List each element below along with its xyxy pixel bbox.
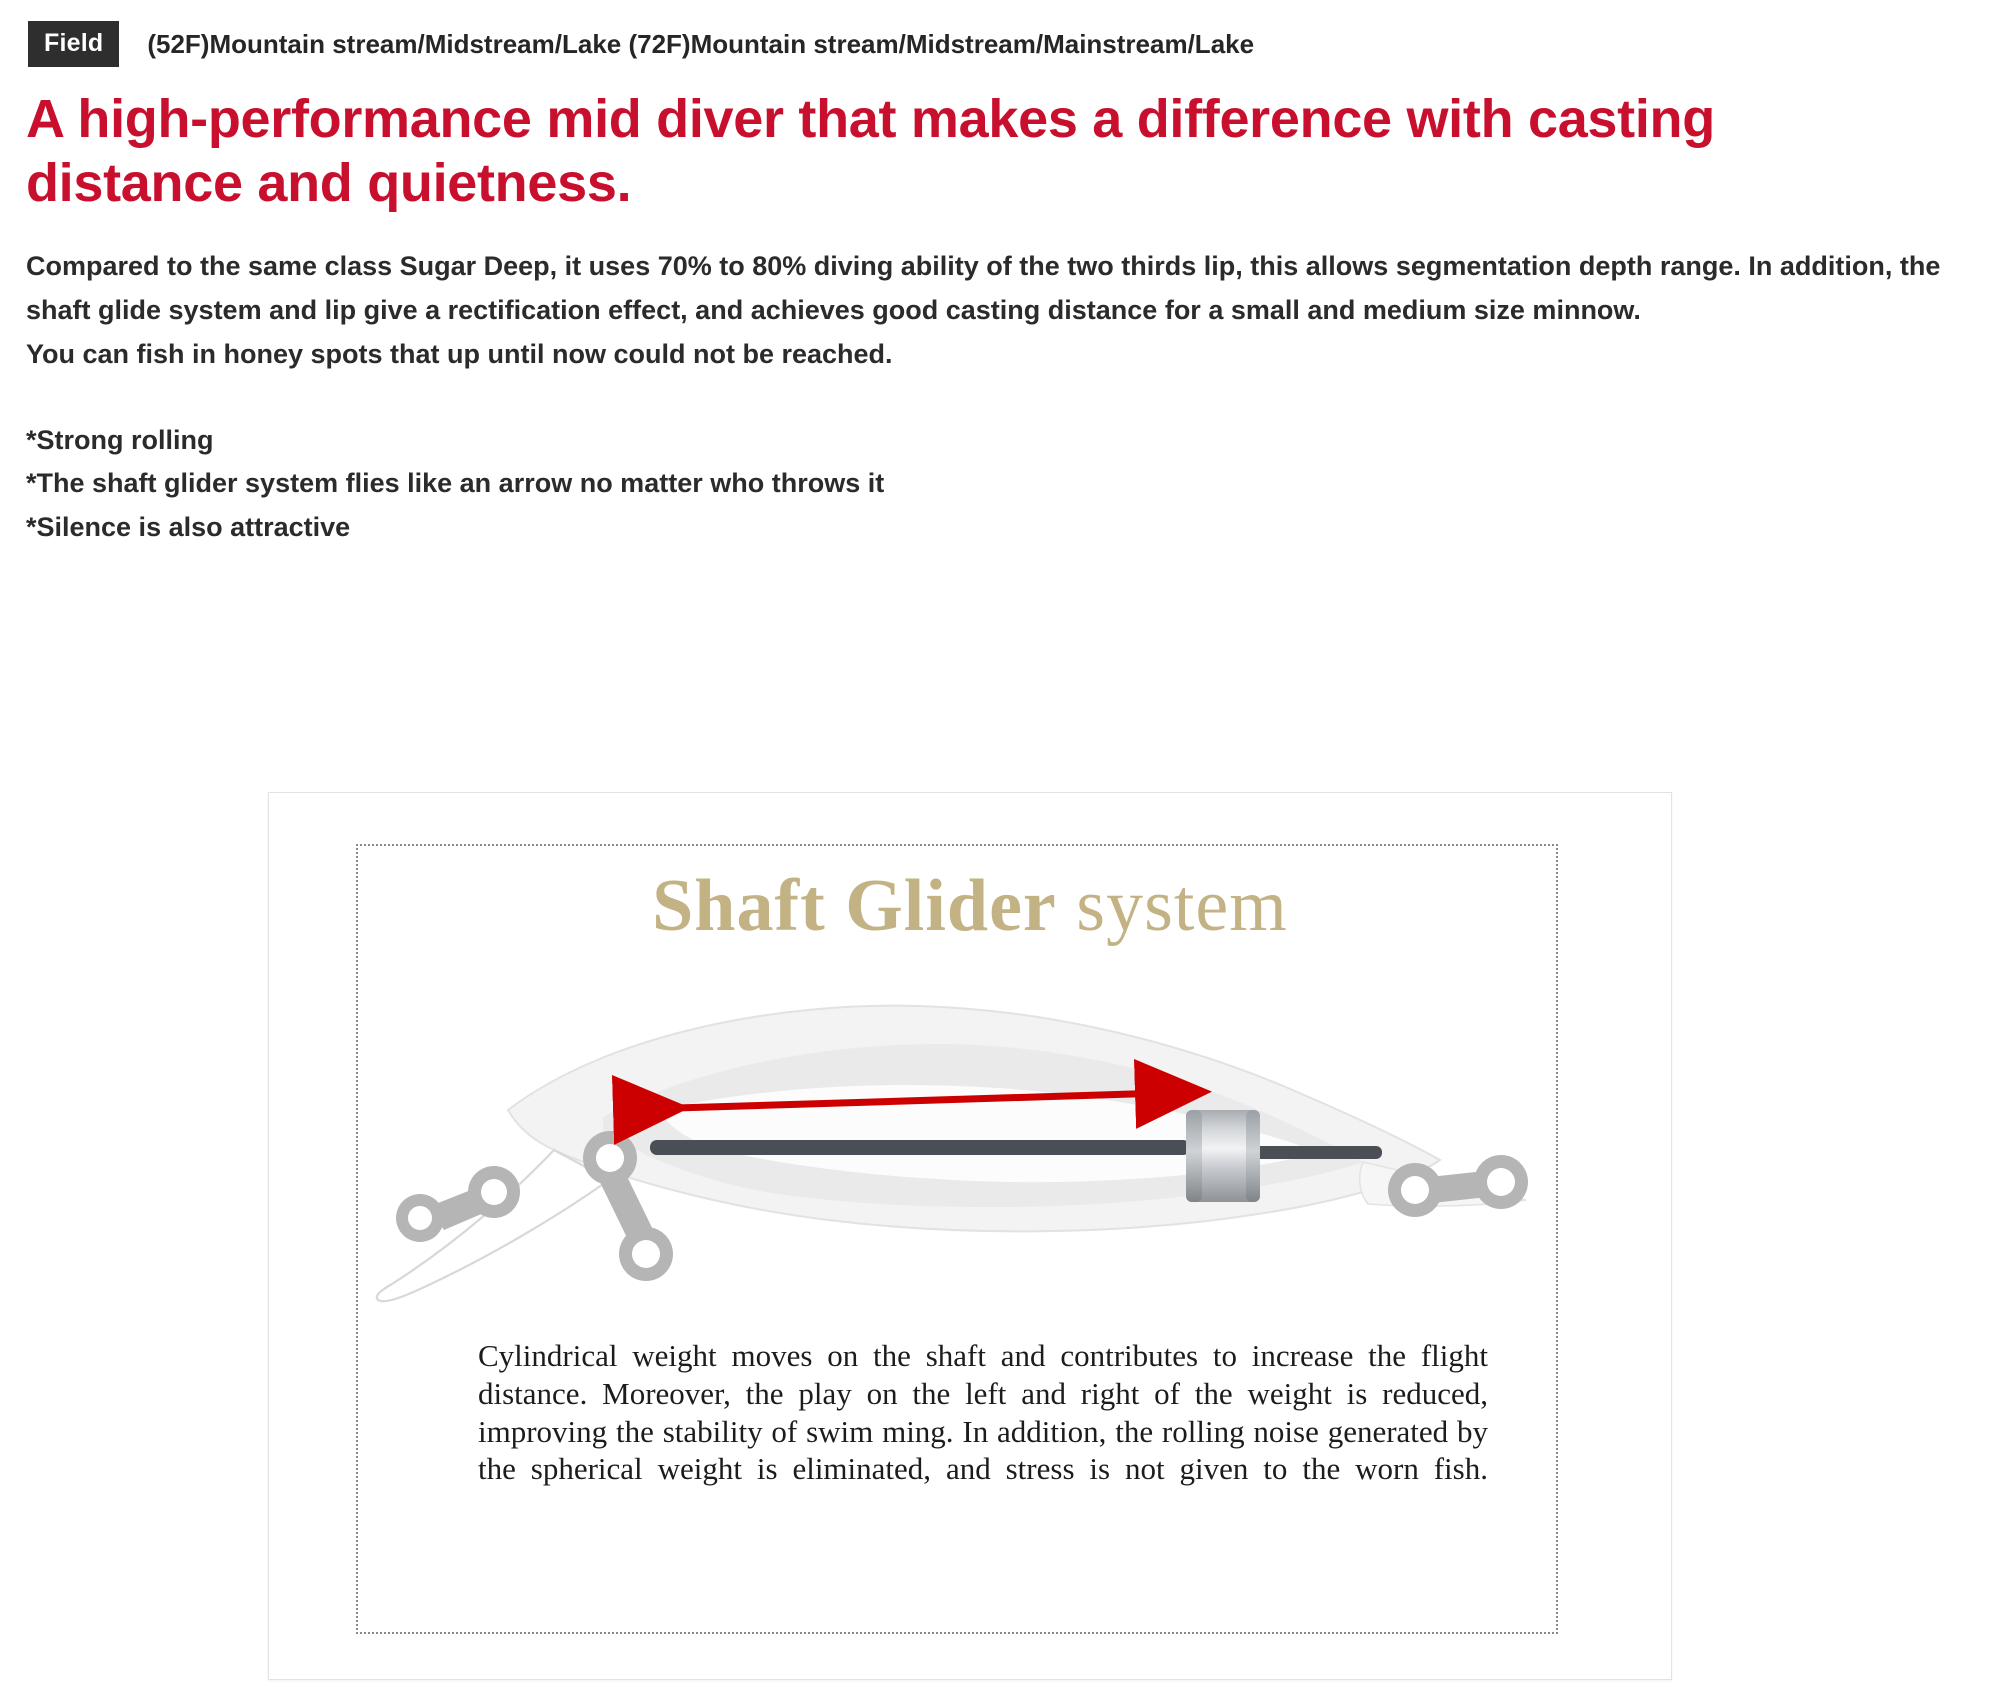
lure-diagram	[358, 992, 1568, 1322]
copy-spacer	[0, 377, 2000, 419]
panel-caption-text: Cylindrical weight moves on the shaft an…	[478, 1337, 1488, 1488]
panel-title-bold: Shaft Glider	[652, 865, 1057, 947]
bullet-item: *The shaft glider system flies like an a…	[26, 462, 2000, 506]
cylindrical-weight	[1186, 1110, 1260, 1202]
feature-bullet-list: *Strong rolling *The shaft glider system…	[26, 419, 2000, 550]
body-paragraph-1: Compared to the same class Sugar Deep, i…	[26, 245, 1966, 332]
shaft-glider-panel: Shaft Glider system	[268, 792, 1672, 1680]
rear-hook-hanger	[1388, 1155, 1528, 1217]
panel-caption: Cylindrical weight moves on the shaft an…	[478, 1337, 1488, 1488]
lure-diagram-svg	[358, 992, 1568, 1322]
page-title: A high-performance mid diver that makes …	[26, 88, 1906, 215]
bullet-item: *Silence is also attractive	[26, 506, 2000, 550]
body-paragraph-2: You can fish in honey spots that up unti…	[26, 333, 1966, 377]
panel-title: Shaft Glider system	[268, 864, 1672, 949]
body-copy: Compared to the same class Sugar Deep, i…	[26, 245, 1966, 376]
bullet-item: *Strong rolling	[26, 419, 2000, 463]
panel-title-regular: system	[1057, 865, 1288, 947]
field-value: (52F)Mountain stream/Midstream/Lake (72F…	[147, 29, 1254, 60]
field-badge: Field	[28, 21, 119, 67]
field-row: Field (52F)Mountain stream/Midstream/Lak…	[0, 0, 2000, 66]
